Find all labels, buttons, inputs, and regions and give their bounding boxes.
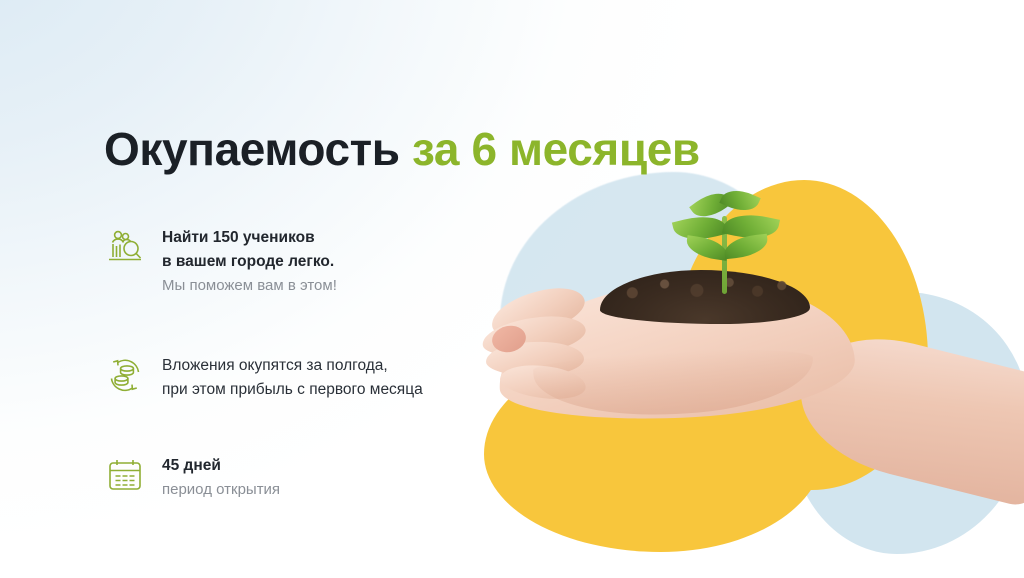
hero-artwork	[470, 0, 1024, 578]
promo-slide: Окупаемость за 6 месяцев Найти 150 учени…	[0, 0, 1024, 578]
feature-text: Найти 150 учеников в вашем городе легко.…	[162, 224, 337, 298]
calendar-icon	[104, 454, 146, 496]
feature-line-1: 45 дней	[162, 454, 280, 478]
feature-item-opening-period: 45 дней период открытия	[104, 452, 504, 502]
people-search-icon	[104, 226, 146, 268]
feature-text: 45 дней период открытия	[162, 452, 280, 502]
feature-subtext: период открытия	[162, 478, 280, 502]
page-title-main: Окупаемость	[104, 123, 412, 175]
feature-list: Найти 150 учеников в вашем городе легко.…	[104, 224, 504, 502]
feature-item-payback: Вложения окупятся за полгода, при этом п…	[104, 352, 504, 402]
leaf	[719, 184, 760, 218]
page-title-accent: за 6 месяцев	[412, 123, 700, 175]
feature-line-1: Вложения окупятся за полгода,	[162, 354, 423, 378]
leaf	[723, 234, 769, 259]
seedling-plant	[666, 188, 796, 294]
feature-item-students: Найти 150 учеников в вашем городе легко.…	[104, 224, 504, 298]
feature-text: Вложения окупятся за полгода, при этом п…	[162, 352, 423, 402]
feature-line-2: в вашем городе легко.	[162, 250, 337, 274]
coins-refresh-icon	[104, 354, 146, 396]
feature-line-1: Найти 150 учеников	[162, 226, 337, 250]
page-title: Окупаемость за 6 месяцев	[104, 122, 700, 176]
feature-subtext: Мы поможем вам в этом!	[162, 274, 337, 298]
feature-line-2: при этом прибыль с первого месяца	[162, 378, 423, 402]
